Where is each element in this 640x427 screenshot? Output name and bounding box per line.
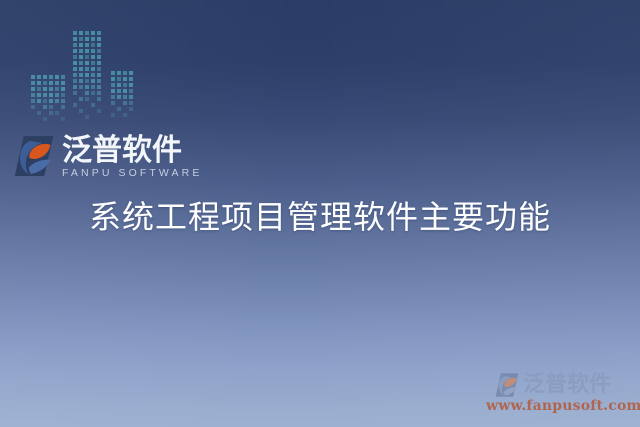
page-title: 系统工程项目管理软件主要功能 bbox=[0, 197, 640, 237]
brand-logo: 泛普软件 FANPU SOFTWARE bbox=[12, 134, 202, 179]
brand-name-en: FANPU SOFTWARE bbox=[62, 167, 202, 179]
pixel-city-buildings-icon bbox=[28, 22, 138, 126]
brand-wordmark: 泛普软件 FANPU SOFTWARE bbox=[62, 135, 202, 179]
watermark-url: www.fanpusoft.com bbox=[486, 398, 634, 415]
slide-canvas: 泛普软件 FANPU SOFTWARE 系统工程项目管理软件主要功能 泛普软件 … bbox=[0, 0, 640, 427]
watermark-name-cn: 泛普软件 bbox=[523, 373, 611, 397]
watermark: 泛普软件 www.fanpusoft.com bbox=[486, 372, 634, 415]
watermark-logo-row: 泛普软件 bbox=[486, 372, 634, 398]
fanpu-logo-mark-icon bbox=[12, 134, 56, 178]
brand-name-cn: 泛普软件 bbox=[62, 135, 202, 166]
fanpu-logo-mark-watermark-icon bbox=[494, 372, 520, 398]
